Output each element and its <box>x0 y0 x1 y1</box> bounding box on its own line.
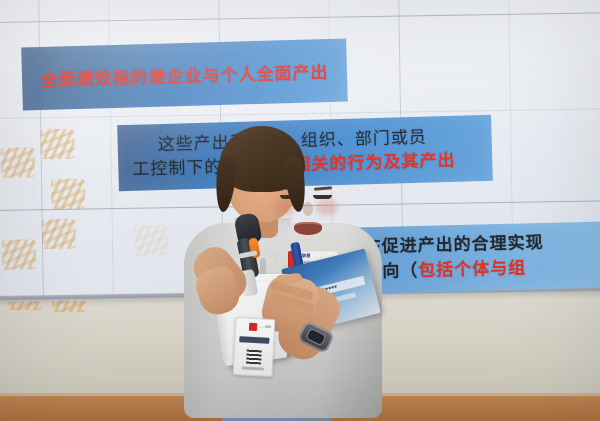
qr-code-icon <box>246 349 262 365</box>
badge-name-bar <box>239 336 269 344</box>
id-badge: ……论坛 <box>233 317 276 377</box>
badge-org-text: ……论坛 <box>259 324 271 329</box>
watch-face <box>305 328 326 347</box>
shirt-logo-text-1: 联想 <box>302 253 310 259</box>
presenter: 联想 LENOVO ■■■■■■■■■■■■■ <box>178 118 408 421</box>
nose <box>303 202 313 216</box>
slide-banner-1: 全面绩效指的是企业与个人全面产出 <box>21 38 348 110</box>
badge-footer-bar <box>242 366 264 370</box>
photo-scene: 全面绩效指的是企业与个人全面产出 这些产出和行为...组织、部门或员 工控制下的… <box>0 0 600 421</box>
mouth <box>294 222 322 235</box>
banner-1-line-1: 全面绩效指的是企业与个人全面产出 <box>40 58 329 91</box>
eyebrow-right <box>314 186 332 191</box>
cheek-right <box>316 199 338 216</box>
badge-logo-icon <box>249 323 257 331</box>
eye-right <box>313 195 332 199</box>
